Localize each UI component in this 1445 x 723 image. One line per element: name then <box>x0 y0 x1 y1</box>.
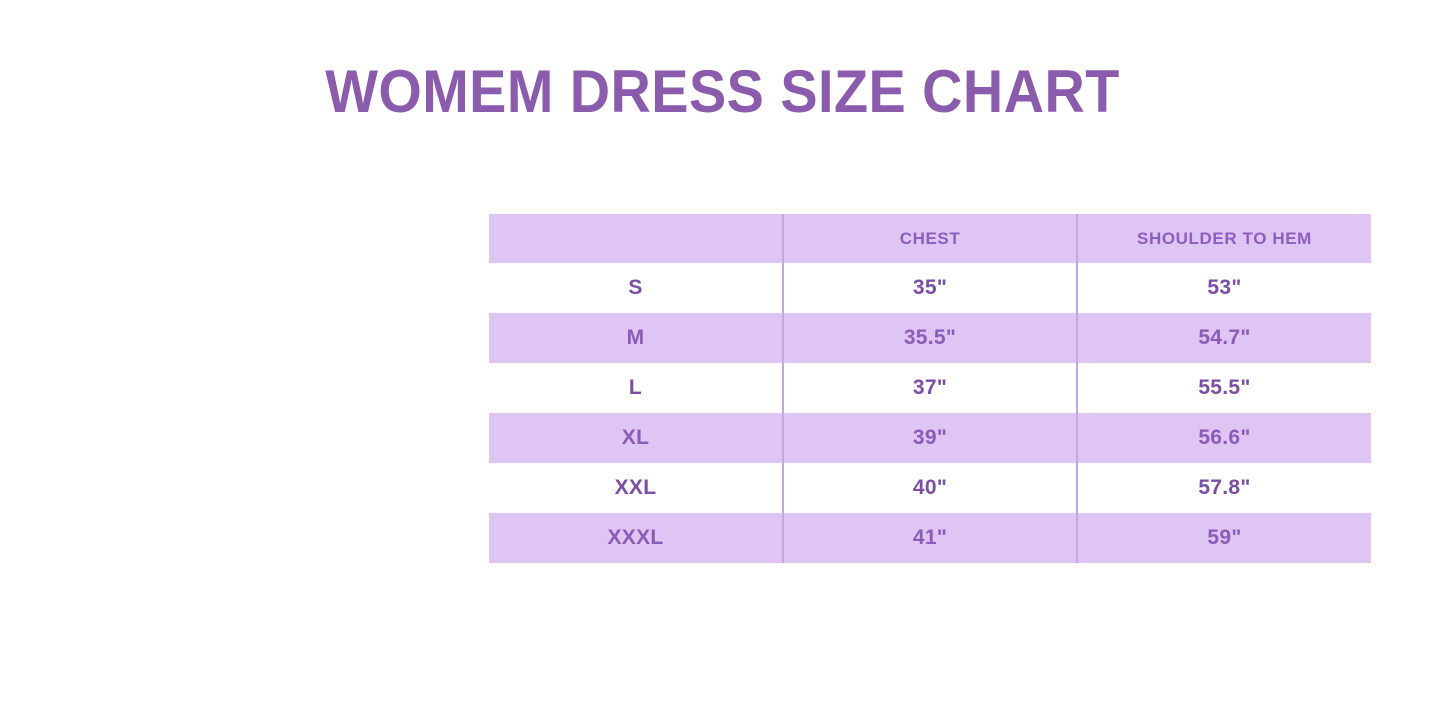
table-row: XL 39" 56.6" <box>489 413 1371 463</box>
cell-shoulder-to-hem: 57.8" <box>1077 463 1371 513</box>
column-header-size <box>489 214 783 263</box>
cell-size: XL <box>489 413 783 463</box>
column-header-shoulder-to-hem: SHOULDER TO HEM <box>1077 214 1371 263</box>
cell-chest: 37" <box>783 363 1077 413</box>
table-row: XXXL 41" 59" <box>489 513 1371 563</box>
table-row: XXL 40" 57.8" <box>489 463 1371 513</box>
table-header: CHEST SHOULDER TO HEM <box>489 214 1371 263</box>
size-chart-table-container: CHEST SHOULDER TO HEM S 35" 53" M 35.5" … <box>489 214 1371 566</box>
cell-chest: 40" <box>783 463 1077 513</box>
page-title: WOMEM DRESS SIZE CHART <box>51 56 1395 128</box>
cell-chest: 39" <box>783 413 1077 463</box>
cell-size: M <box>489 313 783 363</box>
cell-shoulder-to-hem: 53" <box>1077 263 1371 313</box>
table-row: S 35" 53" <box>489 263 1371 313</box>
cell-chest: 41" <box>783 513 1077 563</box>
cell-size: L <box>489 363 783 413</box>
cell-size: XXL <box>489 463 783 513</box>
cell-size: S <box>489 263 783 313</box>
table-body: S 35" 53" M 35.5" 54.7" L 37" 55.5" XL 3… <box>489 263 1371 563</box>
cell-shoulder-to-hem: 55.5" <box>1077 363 1371 413</box>
cell-size: XXXL <box>489 513 783 563</box>
cell-chest: 35" <box>783 263 1077 313</box>
cell-shoulder-to-hem: 54.7" <box>1077 313 1371 363</box>
table-row: M 35.5" 54.7" <box>489 313 1371 363</box>
cell-chest: 35.5" <box>783 313 1077 363</box>
cell-shoulder-to-hem: 59" <box>1077 513 1371 563</box>
table-row: L 37" 55.5" <box>489 363 1371 413</box>
size-chart-page: WOMEM DRESS SIZE CHART CHEST SHOULDER TO… <box>0 0 1445 723</box>
table-header-row: CHEST SHOULDER TO HEM <box>489 214 1371 263</box>
cell-shoulder-to-hem: 56.6" <box>1077 413 1371 463</box>
size-chart-table: CHEST SHOULDER TO HEM S 35" 53" M 35.5" … <box>489 214 1371 563</box>
column-header-chest: CHEST <box>783 214 1077 263</box>
